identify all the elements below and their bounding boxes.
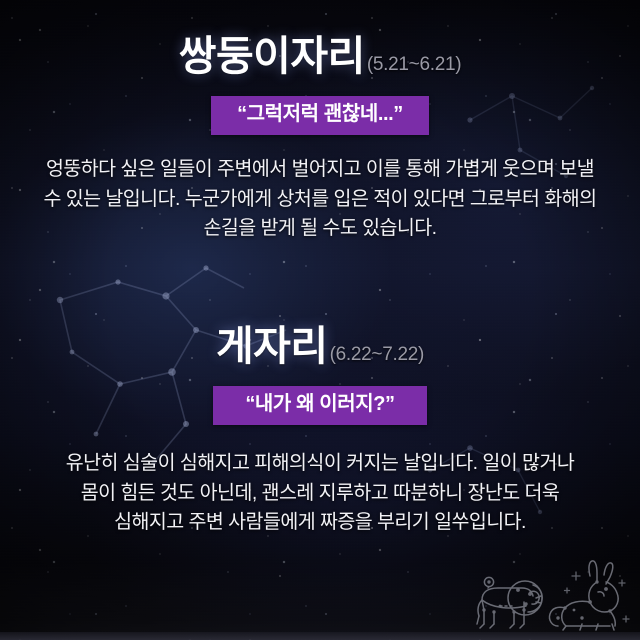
sign-body-gemini: 엉뚱하다 싶은 일들이 주변에서 벌어지고 이를 통해 가볍게 웃으며 보낼 수… [40,155,600,244]
sign-badge-cancer: “내가 왜 이러지?” [213,386,426,425]
sign-date-cancer: (6.22~7.22) [330,344,424,365]
sign-name-cancer: 게자리 [216,323,328,369]
card-content: 쌍둥이자리(5.21~6.21) “그럭저럭 괜찮네...” 엉뚱하다 싶은 일… [0,0,640,640]
sign-name-gemini: 쌍둥이자리 [179,33,365,79]
sign-heading-cancer: 게자리(6.22~7.22) [0,326,640,367]
sign-section-cancer: 게자리(6.22~7.22) “내가 왜 이러지?” 유난히 심술이 심해지고 … [0,326,640,538]
sign-date-gemini: (5.21~6.21) [367,54,461,75]
sign-section-gemini: 쌍둥이자리(5.21~6.21) “그럭저럭 괜찮네...” 엉뚱하다 싶은 일… [0,36,640,244]
horoscope-card: 쌍둥이자리(5.21~6.21) “그럭저럭 괜찮네...” 엉뚱하다 싶은 일… [0,0,640,640]
sign-heading-gemini: 쌍둥이자리(5.21~6.21) [0,36,640,77]
sign-body-cancer: 유난히 심술이 심해지고 피해의식이 커지는 날입니다. 일이 많거나 몸이 힘… [47,449,593,538]
sign-badge-gemini: “그럭저럭 괜찮네...” [211,96,429,135]
